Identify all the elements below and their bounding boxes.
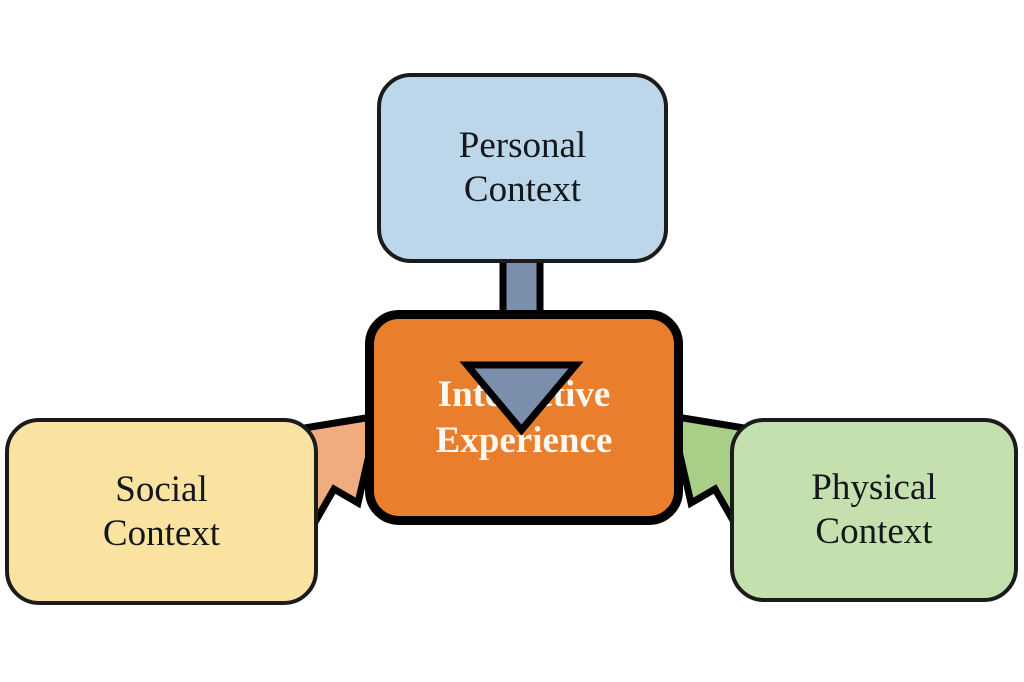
arrow-layer-foreground bbox=[0, 0, 1024, 682]
arrow-personal-tip bbox=[467, 365, 576, 430]
diagram-canvas: Personal Context Social Context Physical… bbox=[0, 0, 1024, 682]
